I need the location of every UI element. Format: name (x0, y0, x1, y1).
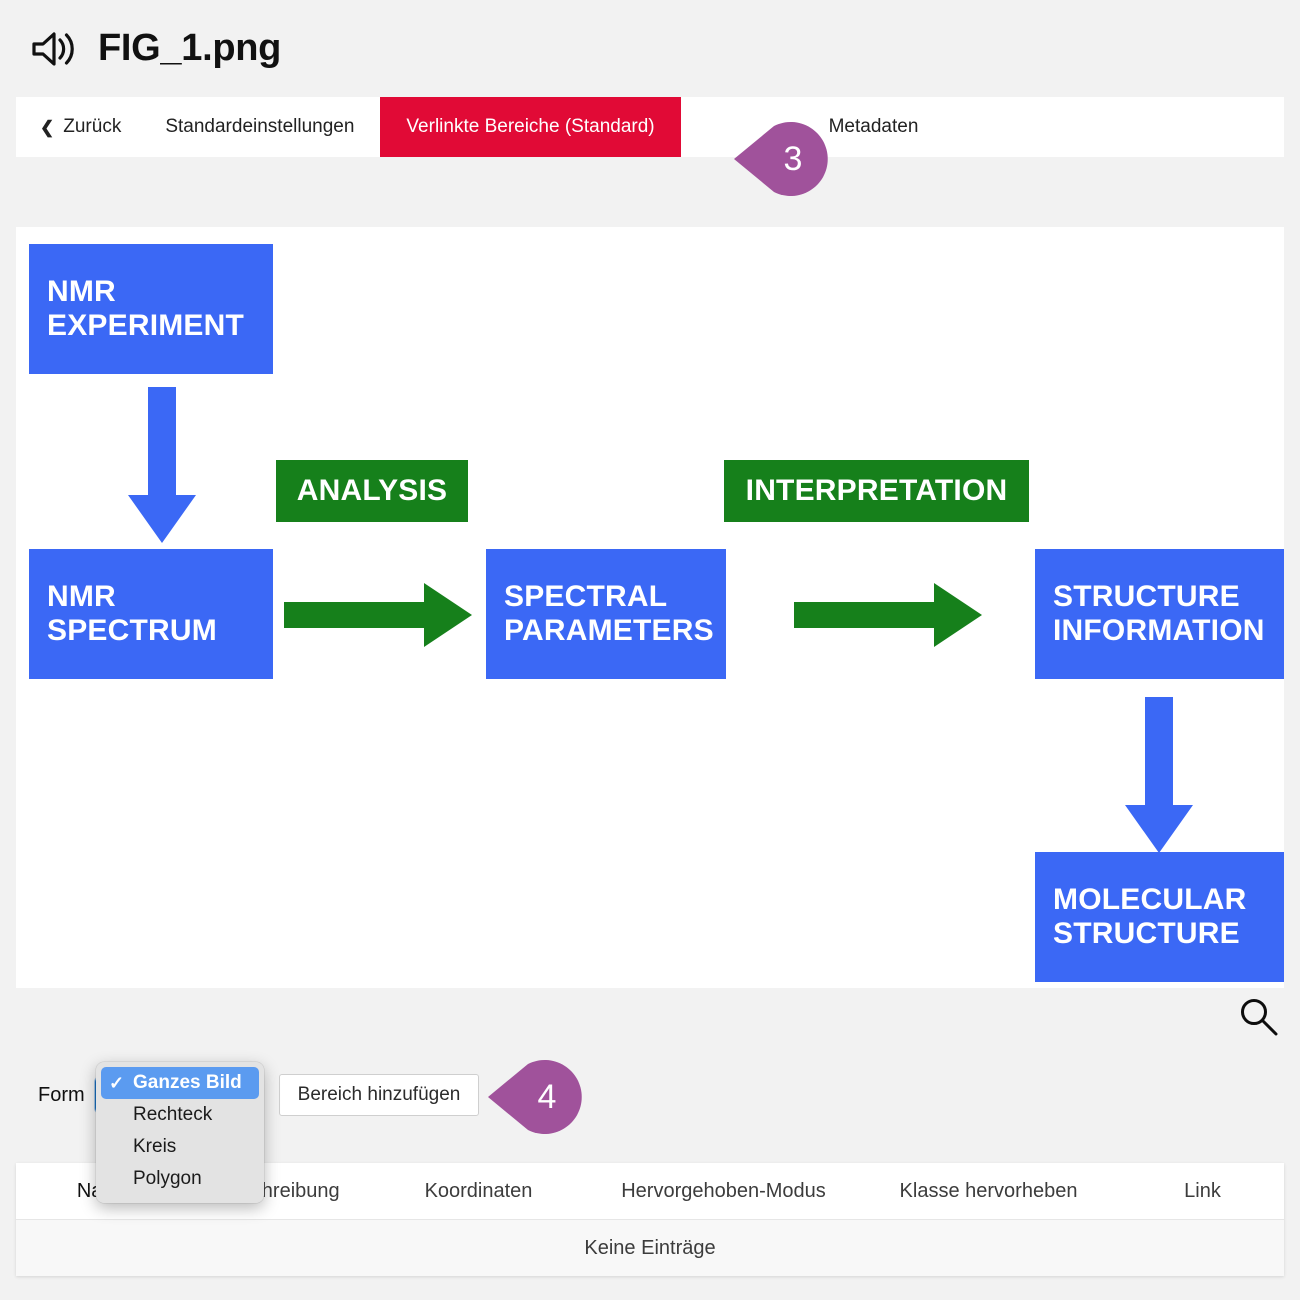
tabbar: ❮ Zurück Standardeinstellungen Verlinkte… (16, 97, 1284, 157)
column-header-link[interactable]: Link (1121, 1180, 1284, 1203)
node-structure-information: STRUCTURE INFORMATION (1035, 549, 1284, 679)
arrow-right-spectrum-to-parameters (284, 575, 474, 655)
node-line: ANALYSIS (297, 474, 448, 508)
node-line: SPECTRUM (47, 614, 273, 648)
dropdown-option-label: Polygon (133, 1168, 202, 1190)
shape-dropdown-menu[interactable]: ✓ Ganzes Bild Rechteck Kreis Polygon (96, 1062, 264, 1203)
chevron-left-icon: ❮ (40, 119, 54, 136)
table-empty-message: Keine Einträge (16, 1220, 1284, 1276)
speaker-icon (30, 29, 76, 69)
dropdown-option-kreis[interactable]: Kreis (101, 1131, 259, 1163)
page-header: FIG_1.png (0, 0, 1300, 97)
arrow-right-parameters-to-structure (794, 575, 984, 655)
node-line: SPECTRAL (504, 580, 726, 614)
dropdown-option-label: Ganzes Bild (133, 1072, 242, 1094)
back-button-label: Zurück (63, 116, 121, 138)
column-header-hervorgehoben-modus[interactable]: Hervorgehoben-Modus (591, 1180, 856, 1203)
check-icon: ✓ (109, 1074, 133, 1092)
dropdown-option-label: Rechteck (133, 1104, 212, 1126)
node-nmr-experiment: NMR EXPERIMENT (29, 244, 273, 374)
node-analysis: ANALYSIS (276, 460, 468, 522)
tab-label: Metadaten (829, 116, 919, 138)
teardrop-shape (488, 1060, 584, 1134)
node-spectral-parameters: SPECTRAL PARAMETERS (486, 549, 726, 679)
node-line: INTERPRETATION (746, 474, 1008, 508)
magnifier-icon[interactable] (1237, 995, 1281, 1039)
node-interpretation: INTERPRETATION (724, 460, 1029, 522)
callout-badge-4: 4 (488, 1060, 584, 1134)
callout-number: 3 (784, 142, 803, 176)
node-line: NMR (47, 275, 273, 309)
back-button[interactable]: ❮ Zurück (16, 97, 139, 157)
figure-diagram: NMR EXPERIMENT NMR SPECTRUM ANALYSIS SPE… (16, 227, 1284, 988)
node-line: NMR (47, 580, 273, 614)
callout-badge-3: 3 (734, 122, 830, 196)
tab-label: Standardeinstellungen (165, 116, 354, 138)
node-nmr-spectrum: NMR SPECTRUM (29, 549, 273, 679)
add-area-button[interactable]: Bereich hinzufügen (279, 1074, 480, 1116)
image-viewer[interactable]: NMR EXPERIMENT NMR SPECTRUM ANALYSIS SPE… (16, 227, 1284, 988)
teardrop-shape (734, 122, 830, 196)
callout-number: 4 (538, 1080, 557, 1114)
node-line: INFORMATION (1053, 614, 1284, 648)
dropdown-option-rechteck[interactable]: Rechteck (101, 1099, 259, 1131)
arrow-down-structure-to-molecular (1119, 697, 1199, 857)
dropdown-option-ganzes-bild[interactable]: ✓ Ganzes Bild (101, 1067, 259, 1099)
column-header-klasse-hervorheben[interactable]: Klasse hervorheben (856, 1180, 1121, 1203)
node-molecular-structure: MOLECULAR STRUCTURE (1035, 852, 1284, 982)
page-title: FIG_1.png (98, 27, 281, 70)
node-line: PARAMETERS (504, 614, 726, 648)
tab-label: Verlinkte Bereiche (Standard) (406, 116, 654, 138)
shape-label: Form (38, 1084, 85, 1107)
node-line: STRUCTURE (1053, 917, 1284, 951)
node-line: MOLECULAR (1053, 883, 1284, 917)
dropdown-option-label: Kreis (133, 1136, 176, 1158)
node-line: EXPERIMENT (47, 309, 273, 343)
tab-standardeinstellungen[interactable]: Standardeinstellungen (139, 97, 380, 157)
dropdown-option-polygon[interactable]: Polygon (101, 1163, 259, 1195)
node-line: STRUCTURE (1053, 580, 1284, 614)
tab-verlinkte-bereiche[interactable]: Verlinkte Bereiche (Standard) (380, 97, 680, 157)
arrow-down-experiment-to-spectrum (122, 387, 202, 547)
column-header-koordinaten[interactable]: Koordinaten (366, 1180, 591, 1203)
